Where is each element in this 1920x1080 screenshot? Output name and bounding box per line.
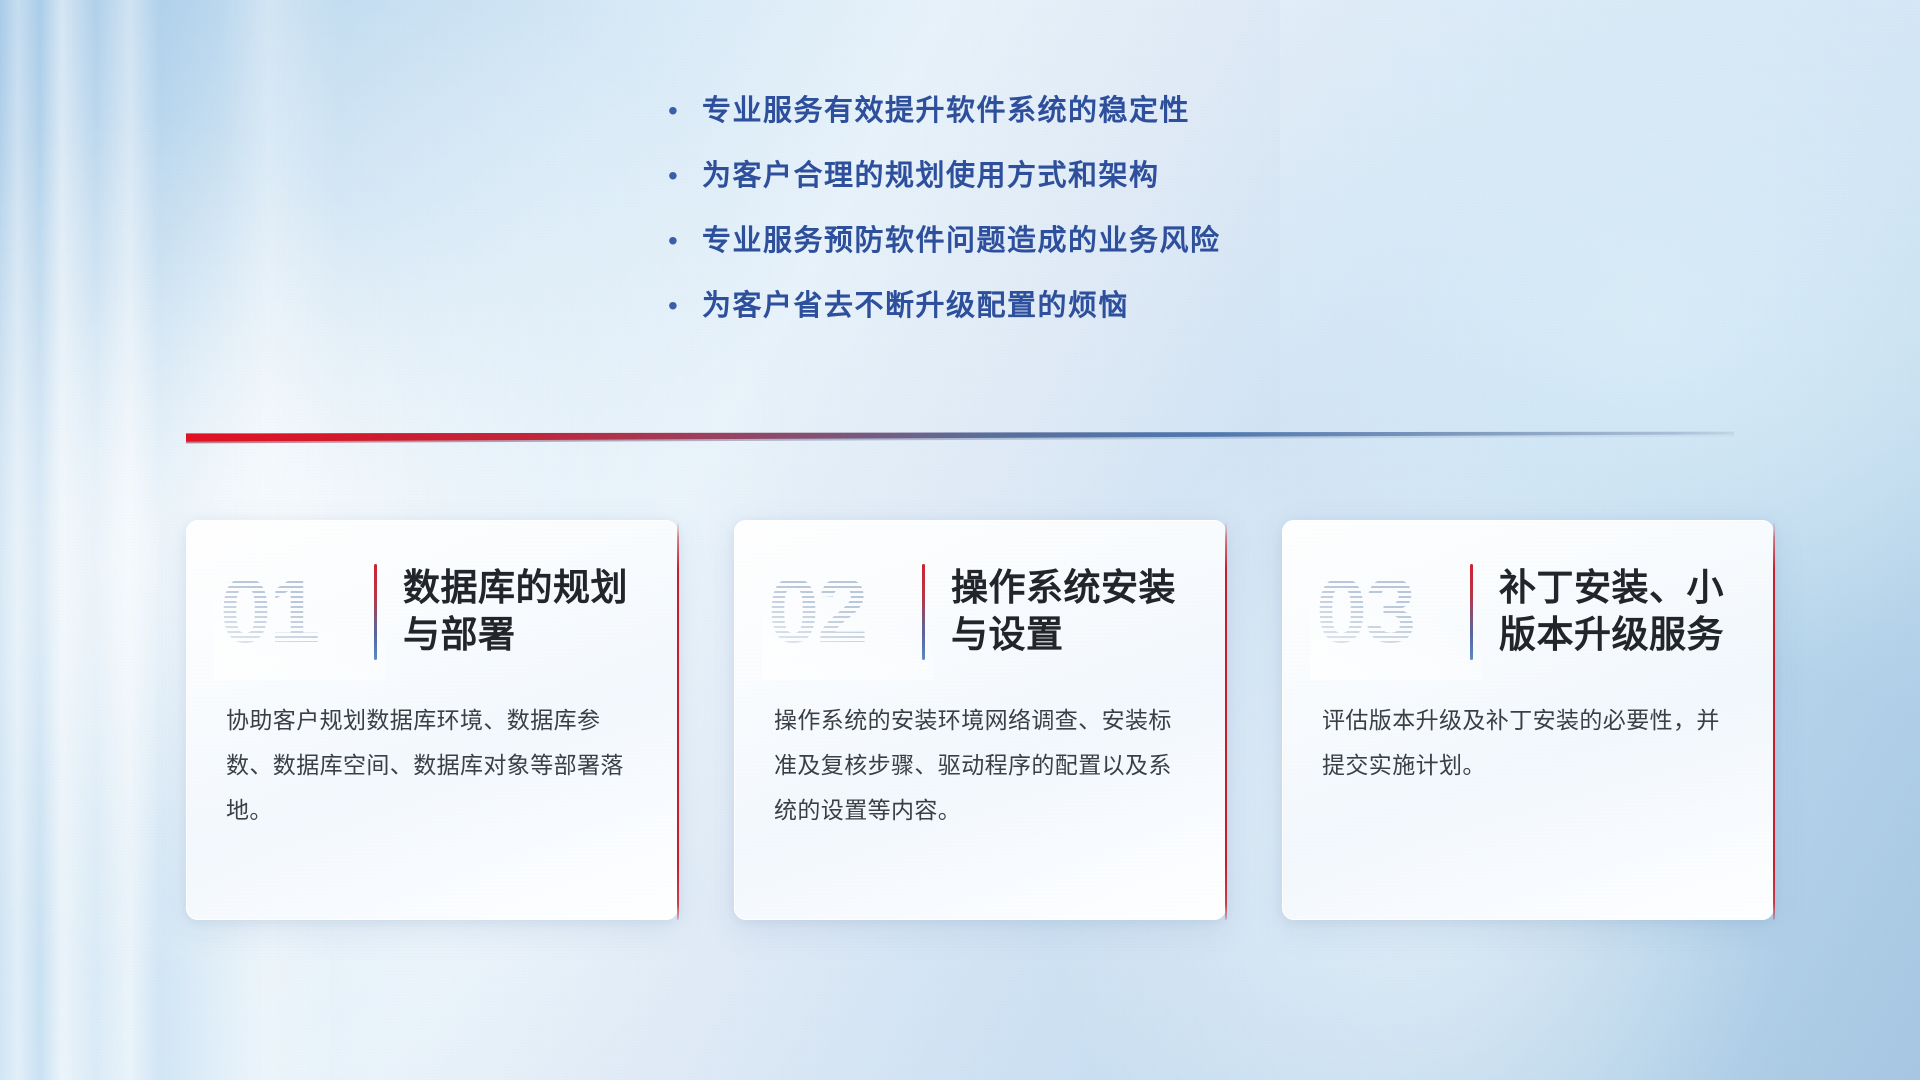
card-title-divider	[374, 564, 377, 660]
bullet-text-3: 专业服务预防软件问题造成的业务风险	[702, 222, 1221, 261]
service-card-02[interactable]: 02 操作系统安装与设置 操作系统的安装环境网络调查、安装标准及复核步骤、驱动程…	[734, 520, 1226, 920]
bullet-text-4: 为客户省去不断升级配置的烦恼	[702, 287, 1129, 326]
service-card-01[interactable]: 01 数据库的规划与部署 协助客户规划数据库环境、数据库参数、数据库空间、数据库…	[186, 520, 678, 920]
card-header: 03 补丁安装、小版本升级服务	[1282, 520, 1774, 670]
card-title-01: 数据库的规划与部署	[403, 565, 648, 658]
card-title-divider	[922, 564, 925, 660]
card-body-01: 协助客户规划数据库环境、数据库参数、数据库空间、数据库对象等部署落地。	[186, 670, 678, 833]
card-body-03: 评估版本升级及补丁安装的必要性，并提交实施计划。	[1282, 670, 1774, 788]
slide-canvas: • 专业服务有效提升软件系统的稳定性 • 为客户合理的规划使用方式和架构 • 专…	[0, 0, 1920, 1080]
card-number-text: 02	[768, 556, 866, 666]
card-header: 02 操作系统安装与设置	[734, 520, 1226, 670]
bullet-text-2: 为客户合理的规划使用方式和架构	[702, 157, 1160, 196]
bullet-dot-icon: •	[668, 97, 702, 125]
bullet-dot-icon: •	[668, 227, 702, 255]
bullet-list: • 专业服务有效提升软件系统的稳定性 • 为客户合理的规划使用方式和架构 • 专…	[668, 92, 1488, 353]
card-number-03-graphic: 03	[1316, 560, 1464, 664]
card-title-divider	[1470, 564, 1473, 660]
card-title-03: 补丁安装、小版本升级服务	[1499, 565, 1744, 658]
card-list: 01 数据库的规划与部署 协助客户规划数据库环境、数据库参数、数据库空间、数据库…	[186, 520, 1774, 920]
bullet-item-3: • 专业服务预防软件问题造成的业务风险	[668, 222, 1488, 261]
bullet-item-1: • 专业服务有效提升软件系统的稳定性	[668, 92, 1488, 131]
card-number-01-graphic: 01	[220, 560, 368, 664]
bullet-text-1: 专业服务有效提升软件系统的稳定性	[702, 92, 1190, 131]
bullet-item-4: • 为客户省去不断升级配置的烦恼	[668, 287, 1488, 326]
card-number-text: 03	[1316, 556, 1414, 666]
card-number-text: 01	[220, 556, 318, 666]
card-header: 01 数据库的规划与部署	[186, 520, 678, 670]
accent-divider-line	[186, 430, 1734, 444]
card-title-02: 操作系统安装与设置	[951, 565, 1196, 658]
card-body-02: 操作系统的安装环境网络调查、安装标准及复核步骤、驱动程序的配置以及系统的设置等内…	[734, 670, 1226, 833]
bullet-dot-icon: •	[668, 162, 702, 190]
card-number-02-graphic: 02	[768, 560, 916, 664]
service-card-03[interactable]: 03 补丁安装、小版本升级服务 评估版本升级及补丁安装的必要性，并提交实施计划。	[1282, 520, 1774, 920]
bullet-item-2: • 为客户合理的规划使用方式和架构	[668, 157, 1488, 196]
bullet-dot-icon: •	[668, 292, 702, 320]
